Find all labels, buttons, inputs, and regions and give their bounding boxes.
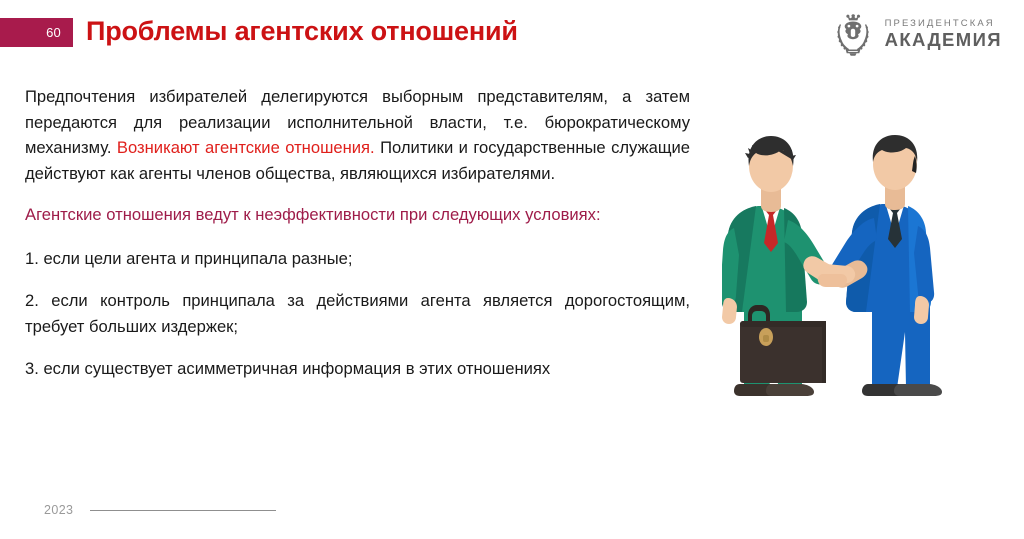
slide: 60 Проблемы агентских отношений: [0, 0, 1024, 539]
logo-text: ПРЕЗИДЕНТСКАЯ АКАДЕМИЯ: [885, 19, 1002, 50]
paragraph-conditions-lead: Агентские отношения ведут к неэффективно…: [25, 202, 690, 228]
page-number-badge: 60: [0, 18, 73, 47]
logo: ПРЕЗИДЕНТСКАЯ АКАДЕМИЯ: [832, 11, 1002, 57]
list-item-3: 3. если существует асимметричная информа…: [25, 356, 690, 382]
footer: 2023: [44, 503, 276, 517]
logo-line-2: АКАДЕМИЯ: [885, 31, 1002, 50]
page-title: Проблемы агентских отношений: [86, 16, 518, 47]
footer-year: 2023: [44, 503, 73, 517]
paragraph-intro-highlight: Возникают агентские отношения.: [117, 138, 375, 157]
handshake-businessmen-illustration: [722, 122, 1006, 414]
footer-divider: [90, 510, 276, 511]
logo-line-1: ПРЕЗИДЕНТСКАЯ: [885, 19, 1002, 29]
list-item-2: 2. если контроль принципала за действиям…: [25, 288, 690, 339]
slide-body: Предпочтения избирателей делегируются вы…: [25, 84, 690, 399]
presidential-academy-emblem-icon: [832, 11, 874, 57]
list-item-1: 1. если цели агента и принципала разные;: [25, 246, 690, 272]
paragraph-intro: Предпочтения избирателей делегируются вы…: [25, 84, 690, 186]
